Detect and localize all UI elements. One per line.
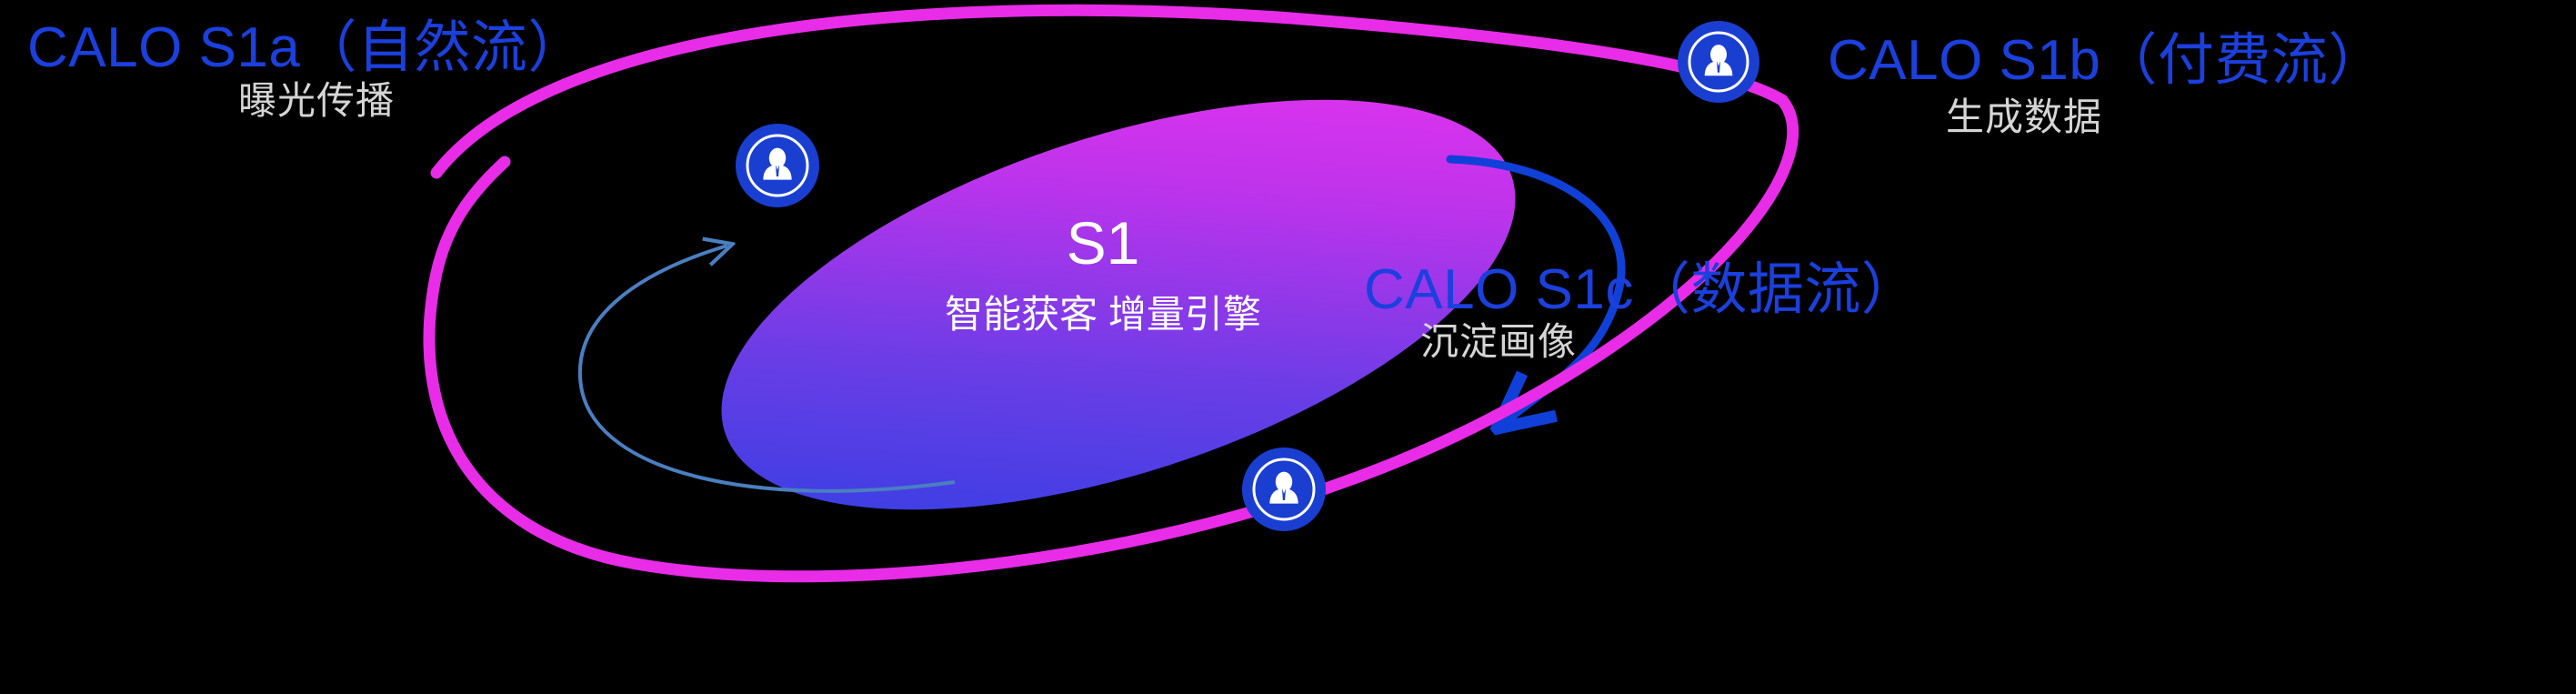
node-title-s1c: CALO S1c（数据流）: [1364, 262, 1918, 318]
node-sub-s1a: 曝光传播: [238, 82, 395, 120]
node-badge-s1b[interactable]: [1678, 21, 1759, 103]
node-title-s1b: CALO S1b（付费流）: [1828, 33, 2385, 89]
node-badge-s1c[interactable]: [1242, 448, 1326, 531]
node-badge-s1a[interactable]: [736, 124, 819, 207]
node-sub-s1c: 沉淀画像: [1420, 323, 1577, 361]
core-title: S1: [1067, 209, 1140, 277]
node-title-s1a: CALO S1a（自然流）: [27, 20, 585, 76]
core-subtitle: 智能获客 增量引擎: [945, 293, 1261, 336]
node-sub-s1b: 生成数据: [1946, 98, 2102, 136]
diagram-canvas: S1 智能获客 增量引擎 CALO S1a（自然流） 曝光传播 CALO S1b…: [0, 0, 2576, 694]
